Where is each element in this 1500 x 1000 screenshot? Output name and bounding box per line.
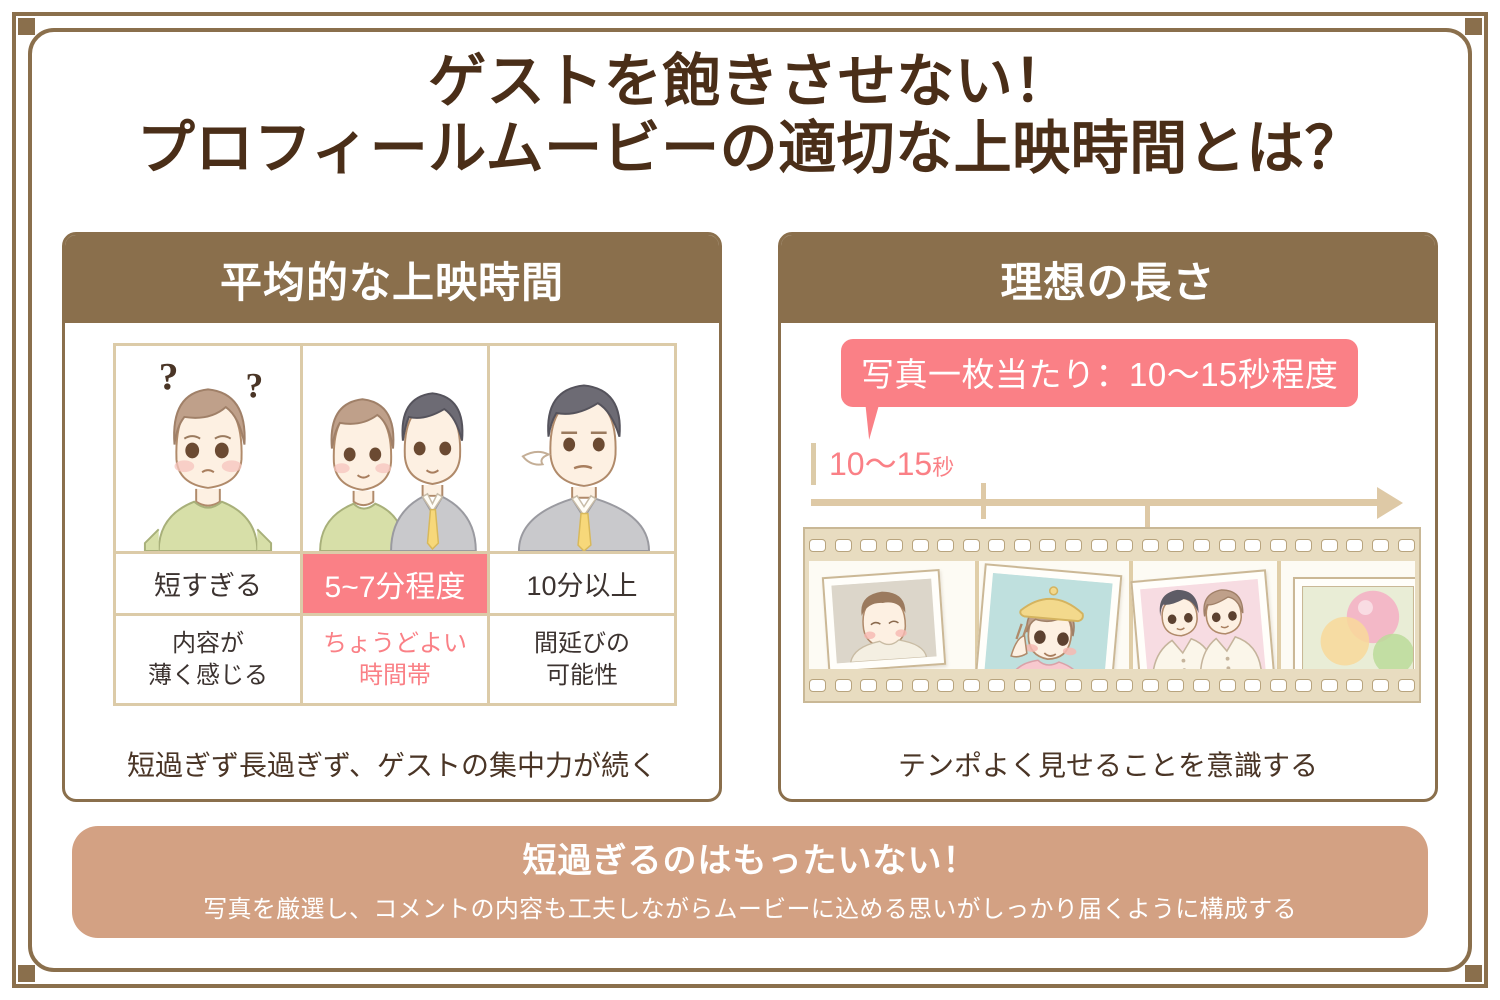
corner-ornament-bottom-left-icon [18, 965, 35, 982]
svg-text:?: ? [245, 365, 263, 405]
panel-left-caption: 短過ぎず長過ぎず、ゲストの集中力が続く [65, 744, 719, 784]
desc-too-short-line1: 内容が [116, 628, 300, 659]
per-photo-badge: 写真一枚当たり：10〜15秒程度 [841, 339, 1358, 407]
cell-illustration-too-long [489, 345, 676, 553]
panel-average-duration: 平均的な上映時間 ? ? [62, 232, 722, 802]
panel-right-body: 写真一枚当たり：10〜15秒程度 10〜15秒 [781, 323, 1435, 802]
film-separator-3 [1277, 561, 1281, 669]
panel-ideal-length: 理想の長さ 写真一枚当たり：10〜15秒程度 10〜15秒 [778, 232, 1438, 802]
happy-couple-icon [303, 346, 487, 551]
panel-right-caption: テンポよく見せることを意識する [781, 744, 1435, 784]
timeline-start-tick-icon [811, 443, 816, 485]
film-photo-students [1130, 569, 1275, 669]
film-holes-top [805, 533, 1419, 557]
duration-comparison-table: ? ? [113, 343, 677, 706]
per-photo-badge-wrap: 写真一枚当たり：10〜15秒程度 [829, 339, 1393, 407]
cell-illustration-ideal [302, 345, 489, 553]
puzzled-woman-icon: ? ? [116, 346, 300, 551]
film-photo-child [974, 563, 1123, 669]
corner-ornament-top-right-icon [1465, 18, 1482, 35]
desc-ideal: ちょうどよい 時間帯 [302, 615, 489, 705]
desc-too-short: 内容が 薄く感じる [115, 615, 302, 705]
student-couple-photo-icon [1140, 579, 1266, 669]
balloons-photo-icon [1303, 587, 1413, 669]
bottom-banner-headline: 短過ぎるのはもったいない！ [523, 840, 978, 883]
panel-left-heading: 平均的な上映時間 [65, 235, 719, 323]
title-line-1: ゲストを飽きさせない！ [60, 48, 1440, 115]
bottom-banner: 短過ぎるのはもったいない！ 写真を厳選し、コメントの内容も工夫しながらムービーに… [72, 826, 1428, 938]
label-too-short: 短すぎる [115, 553, 302, 615]
film-strip [803, 527, 1421, 703]
timeline-duration-value: 10〜15 [829, 446, 932, 482]
film-photo-balloons [1293, 577, 1415, 669]
desc-too-short-line2: 薄く感じる [116, 660, 300, 691]
child-photo-icon [983, 573, 1112, 669]
panel-left-body: ? ? [65, 323, 719, 802]
timeline-tick-1-icon [981, 483, 986, 519]
label-ideal: 5~7分程度 [302, 553, 489, 615]
desc-too-long-line1: 間延びの [490, 628, 674, 659]
bored-man-icon [490, 346, 674, 551]
svg-text:?: ? [159, 354, 179, 398]
table-row-illustrations: ? ? [115, 345, 676, 553]
table-row-descriptions: 内容が 薄く感じる ちょうどよい 時間帯 間延びの 可能性 [115, 615, 676, 705]
timeline-axis-line [811, 499, 1381, 506]
corner-ornament-top-left-icon [18, 18, 35, 35]
bottom-banner-subtext: 写真を厳選し、コメントの内容も工夫しながらムービーに込める思いがしっかり届くよう… [203, 889, 1297, 924]
label-too-long: 10分以上 [489, 553, 676, 615]
film-holes-bottom [805, 673, 1419, 697]
title-line-2: プロフィールムービーの適切な上映時間とは？ [60, 115, 1440, 182]
page-title: ゲストを飽きさせない！ プロフィールムービーの適切な上映時間とは？ [60, 48, 1440, 183]
timeline-duration-label: 10〜15秒 [829, 439, 954, 485]
baby-photo-icon [831, 579, 936, 664]
corner-ornament-bottom-right-icon [1465, 965, 1482, 982]
desc-ideal-line2: 時間帯 [303, 660, 487, 691]
infographic-root: ゲストを飽きさせない！ プロフィールムービーの適切な上映時間とは？ 平均的な上映… [0, 0, 1500, 1000]
film-window [809, 561, 1415, 669]
panel-right-heading: 理想の長さ [781, 235, 1435, 323]
desc-too-long-line2: 可能性 [490, 660, 674, 691]
duration-timeline: 10〜15秒 [805, 443, 1417, 533]
timeline-duration-unit: 秒 [932, 455, 954, 480]
timeline-arrow-icon [1377, 487, 1403, 519]
film-photo-baby [822, 569, 946, 669]
cell-illustration-too-short: ? ? [115, 345, 302, 553]
desc-ideal-line1: ちょうどよい [303, 628, 487, 659]
desc-too-long: 間延びの 可能性 [489, 615, 676, 705]
table-row-labels: 短すぎる 5~7分程度 10分以上 [115, 553, 676, 615]
